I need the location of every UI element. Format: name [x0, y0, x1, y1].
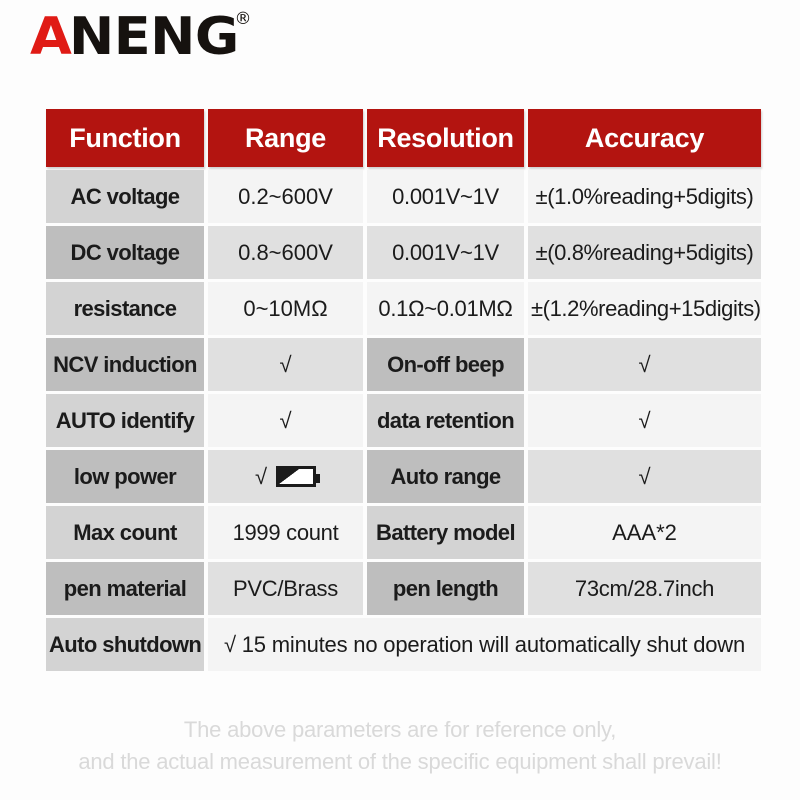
- logo-text-neng: NENG: [69, 8, 239, 66]
- table-row: AC voltage 0.2~600V 0.001V~1V ±(1.0%read…: [46, 170, 761, 223]
- column-header-range: Range: [208, 109, 363, 167]
- cell-range-check: √: [208, 338, 363, 391]
- cell-resolution: 0.001V~1V: [367, 170, 524, 223]
- cell-auto-shutdown-detail: √ 15 minutes no operation will automatic…: [208, 618, 761, 671]
- table-row: NCV induction √ On-off beep √: [46, 338, 761, 391]
- table-header-row: Function Range Resolution Accuracy: [46, 109, 761, 167]
- table-row: Max count 1999 count Battery model AAA*2: [46, 506, 761, 559]
- cell-function: low power: [46, 450, 204, 503]
- table-row: low power √ Auto range √: [46, 450, 761, 503]
- cell-function: pen material: [46, 562, 204, 615]
- specification-table: Function Range Resolution Accuracy AC vo…: [42, 106, 765, 674]
- check-mark-icon: √: [255, 464, 267, 490]
- column-header-resolution: Resolution: [367, 109, 524, 167]
- cell-function: Max count: [46, 506, 204, 559]
- logo-letter-a: A: [30, 8, 71, 66]
- table-row-auto-shutdown: Auto shutdown √ 15 minutes no operation …: [46, 618, 761, 671]
- cell-range: 0~10MΩ: [208, 282, 363, 335]
- disclaimer-line-1: The above parameters are for reference o…: [0, 714, 800, 746]
- table-row: resistance 0~10MΩ 0.1Ω~0.01MΩ ±(1.2%read…: [46, 282, 761, 335]
- cell-range: 0.8~600V: [208, 226, 363, 279]
- cell-function: NCV induction: [46, 338, 204, 391]
- cell-range: 0.2~600V: [208, 170, 363, 223]
- cell-accuracy: AAA*2: [528, 506, 761, 559]
- cell-resolution-label: pen length: [367, 562, 524, 615]
- disclaimer-line-2: and the actual measurement of the specif…: [0, 746, 800, 778]
- cell-range-check: √: [208, 394, 363, 447]
- table-row: DC voltage 0.8~600V 0.001V~1V ±(0.8%read…: [46, 226, 761, 279]
- cell-function: AC voltage: [46, 170, 204, 223]
- column-header-function: Function: [46, 109, 204, 167]
- cell-resolution-label: Battery model: [367, 506, 524, 559]
- table-row: AUTO identify √ data retention √: [46, 394, 761, 447]
- cell-function: DC voltage: [46, 226, 204, 279]
- cell-resolution: 0.1Ω~0.01MΩ: [367, 282, 524, 335]
- cell-function: resistance: [46, 282, 204, 335]
- cell-accuracy: ±(0.8%reading+5digits): [528, 226, 761, 279]
- cell-resolution: 0.001V~1V: [367, 226, 524, 279]
- cell-resolution-label: Auto range: [367, 450, 524, 503]
- cell-accuracy-check: √: [528, 450, 761, 503]
- cell-accuracy: 73cm/28.7inch: [528, 562, 761, 615]
- cell-resolution-label: On-off beep: [367, 338, 524, 391]
- table-row: pen material PVC/Brass pen length 73cm/2…: [46, 562, 761, 615]
- cell-function: AUTO identify: [46, 394, 204, 447]
- cell-accuracy-check: √: [528, 338, 761, 391]
- cell-range: 1999 count: [208, 506, 363, 559]
- brand-logo: A NENG ®: [30, 8, 252, 70]
- cell-range-check-battery: √: [208, 450, 363, 503]
- cell-accuracy-check: √: [528, 394, 761, 447]
- disclaimer-note: The above parameters are for reference o…: [0, 714, 800, 778]
- cell-function: Auto shutdown: [46, 618, 204, 671]
- cell-resolution-label: data retention: [367, 394, 524, 447]
- low-battery-icon: [276, 466, 316, 487]
- cell-accuracy: ±(1.2%reading+15digits): [528, 282, 761, 335]
- cell-range: PVC/Brass: [208, 562, 363, 615]
- cell-accuracy: ±(1.0%reading+5digits): [528, 170, 761, 223]
- column-header-accuracy: Accuracy: [528, 109, 761, 167]
